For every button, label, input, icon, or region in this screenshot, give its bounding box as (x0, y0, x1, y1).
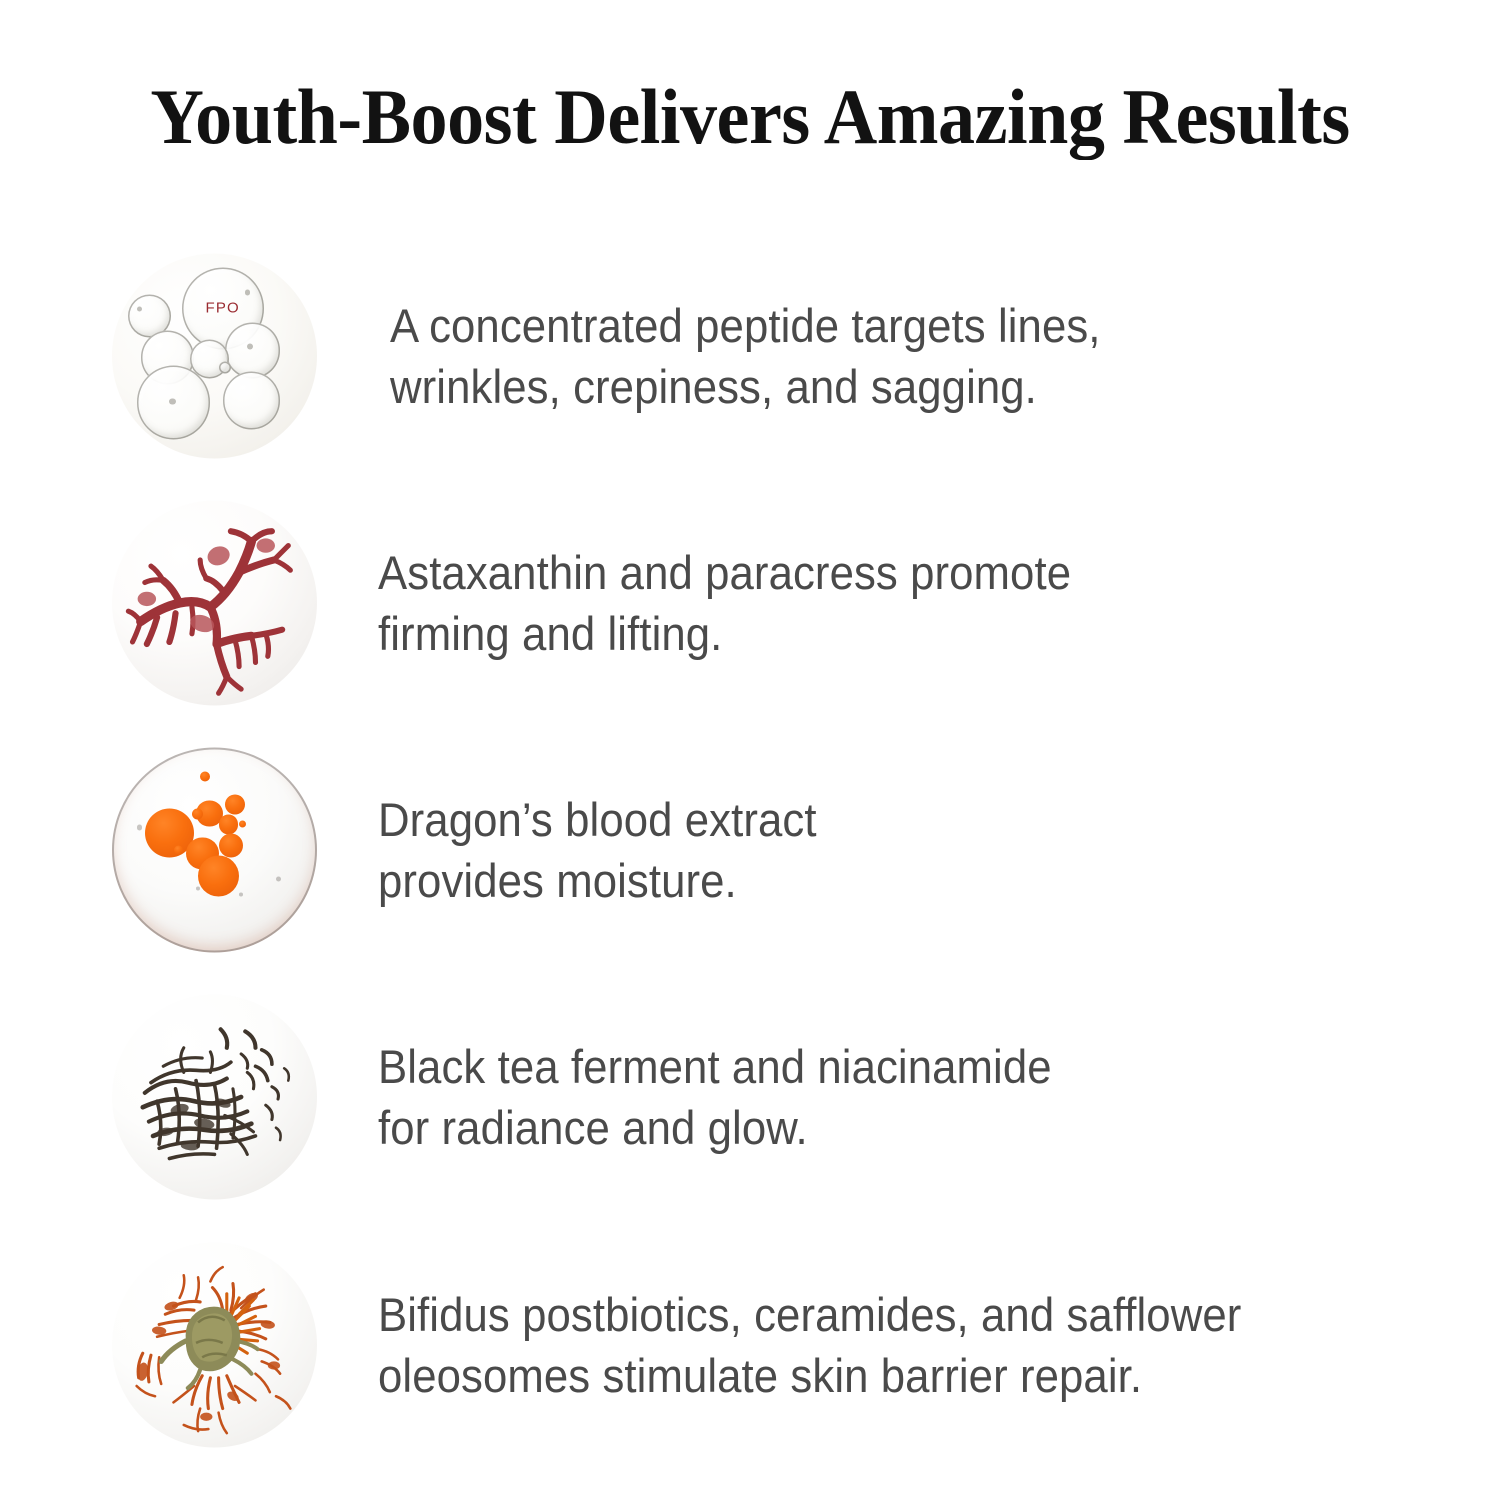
benefit-row: Dragon’s blood extract provides moisture… (0, 726, 1500, 973)
oil-droplet-icon (219, 815, 238, 834)
benefit-text-line: Bifidus postbiotics, ceramides, and saff… (378, 1284, 1382, 1345)
oil-droplet-icon (192, 809, 203, 820)
speck (239, 893, 243, 897)
red-algae-icon (112, 500, 317, 705)
oil-droplet-icon (198, 856, 239, 897)
red-algae-swatch (112, 500, 317, 705)
benefit-text: Astaxanthin and paracress promote firmin… (378, 541, 1458, 663)
benefit-text-line: provides moisture. (378, 850, 1382, 911)
benefit-text-line: A concentrated peptide targets lines, (390, 294, 1394, 355)
fpo-placeholder-label: FPO (182, 267, 264, 349)
speck (196, 886, 200, 890)
benefit-text-line: Dragon’s blood extract (378, 788, 1382, 849)
benefit-row: Black tea ferment and niacinamide for ra… (0, 973, 1500, 1220)
bubble-icon (219, 362, 231, 374)
benefit-text-line: wrinkles, crepiness, and sagging. (390, 356, 1394, 417)
specular-dot (169, 399, 175, 405)
benefit-text: Black tea ferment and niacinamide for ra… (378, 1035, 1458, 1157)
infographic-page: Youth-Boost Delivers Amazing Results (0, 0, 1500, 1500)
sphere-base (112, 500, 317, 705)
black-tea-leaves-swatch (112, 994, 317, 1199)
sphere-base (112, 994, 317, 1199)
benefit-text-line: firming and lifting. (378, 603, 1382, 664)
flower-bud (161, 1307, 257, 1388)
petri-dish-base (112, 747, 317, 952)
page-title: Youth-Boost Delivers Amazing Results (38, 78, 1463, 156)
gel-bubbles-swatch: FPO (112, 253, 317, 458)
oil-droplet-icon (174, 845, 183, 854)
sphere-base (112, 1243, 317, 1448)
safflower-icon (112, 1243, 317, 1448)
speck (137, 825, 142, 830)
orange-droplets-swatch (112, 747, 317, 952)
benefit-text: Bifidus postbiotics, ceramides, and saff… (378, 1284, 1458, 1406)
sphere-base: FPO (112, 253, 317, 458)
benefit-text-line: for radiance and glow. (378, 1097, 1382, 1158)
bubble-icon (223, 372, 280, 429)
benefit-row: Bifidus postbiotics, ceramides, and saff… (0, 1220, 1500, 1470)
benefit-text-line: Astaxanthin and paracress promote (378, 541, 1382, 602)
oil-droplet-icon (225, 794, 246, 815)
benefit-row: Astaxanthin and paracress promote firmin… (0, 479, 1500, 726)
speck (276, 876, 281, 881)
oil-droplet-icon (200, 772, 210, 782)
benefit-text-line: oleosomes stimulate skin barrier repair. (378, 1345, 1382, 1406)
benefits-list: FPO A concentrated peptide targets lines… (0, 232, 1500, 1470)
benefit-row: FPO A concentrated peptide targets lines… (0, 232, 1500, 479)
benefit-text: Dragon’s blood extract provides moisture… (378, 788, 1458, 910)
benefit-text: A concentrated peptide targets lines, wr… (390, 294, 1470, 416)
safflower-swatch (112, 1243, 317, 1448)
oil-droplet-icon (219, 833, 244, 858)
oil-droplet-icon (239, 821, 246, 828)
tea-leaves-icon (112, 994, 317, 1199)
benefit-text-line: Black tea ferment and niacinamide (378, 1035, 1382, 1096)
